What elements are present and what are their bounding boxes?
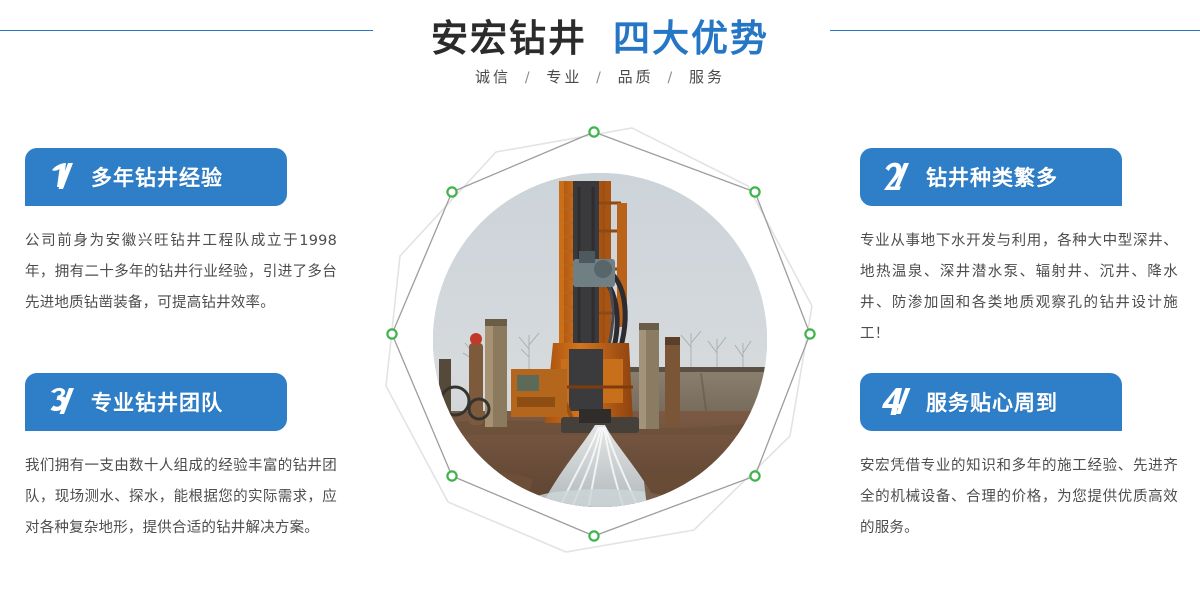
number-two-icon: [878, 156, 920, 198]
title-brand: 安宏钻井: [431, 17, 587, 60]
feature-body-2: 专业从事地下水开发与利用，各种大中型深井、地热温泉、深井潜水泵、辐射井、沉井、降…: [860, 226, 1178, 350]
subtitle-item-2: 专业: [546, 68, 582, 86]
drilling-rig-photo: [433, 173, 767, 507]
vertex-marker-e: [805, 329, 814, 338]
feature-badge-1[interactable]: 多年钻井经验: [25, 148, 287, 206]
feature-body-1: 公司前身为安徽兴旺钻井工程队成立于1998年，拥有二十多年的钻井行业经验，引进了…: [25, 226, 337, 319]
feature-badge-3[interactable]: 专业钻井团队: [25, 373, 287, 431]
feature-title-3: 专业钻井团队: [91, 387, 223, 417]
page-title: 安宏钻井四大优势: [0, 8, 1200, 62]
vertex-marker-s: [589, 531, 598, 540]
vertex-marker-w: [387, 329, 396, 338]
vertex-marker-n: [589, 127, 598, 136]
header-subtitle: 诚信 / 专业 / 品质 / 服务: [0, 66, 1200, 87]
subtitle-item-4: 服务: [689, 68, 725, 86]
feature-body-3: 我们拥有一支由数十人组成的经验丰富的钻井团队，现场测水、探水，能根据您的实际需求…: [25, 451, 337, 544]
feature-body-4: 安宏凭借专业的知识和多年的施工经验、先进齐全的机械设备、合理的价格，为您提供优质…: [860, 451, 1178, 544]
feature-badge-4[interactable]: 服务贴心周到: [860, 373, 1122, 431]
drilling-rig-illustration: [433, 173, 767, 507]
title-accent: 四大优势: [613, 17, 769, 60]
number-three-icon: [43, 381, 85, 423]
subtitle-separator-3: /: [667, 70, 675, 86]
feature-card-4: 服务贴心周到 安宏凭借专业的知识和多年的施工经验、先进齐全的机械设备、合理的价格…: [860, 373, 1200, 544]
feature-card-1: 多年钻井经验 公司前身为安徽兴旺钻井工程队成立于1998年，拥有二十多年的钻井行…: [0, 148, 340, 319]
subtitle-item-3: 品质: [618, 68, 654, 86]
feature-badge-2[interactable]: 钻井种类繁多: [860, 148, 1122, 206]
page-header: 安宏钻井四大优势 诚信 / 专业 / 品质 / 服务: [0, 0, 1200, 110]
subtitle-item-1: 诚信: [475, 68, 511, 86]
subtitle-separator-2: /: [596, 70, 604, 86]
center-graphic: [370, 110, 830, 570]
feature-title-2: 钻井种类繁多: [926, 162, 1058, 192]
feature-card-2: 钻井种类繁多 专业从事地下水开发与利用，各种大中型深井、地热温泉、深井潜水泵、辐…: [860, 148, 1200, 350]
subtitle-separator-1: /: [525, 70, 533, 86]
promo-page: 安宏钻井四大优势 诚信 / 专业 / 品质 / 服务 多年钻井经验: [0, 0, 1200, 600]
feature-title-4: 服务贴心周到: [926, 387, 1058, 417]
feature-card-3: 专业钻井团队 我们拥有一支由数十人组成的经验丰富的钻井团队，现场测水、探水，能根…: [0, 373, 340, 544]
number-one-icon: [43, 156, 85, 198]
number-four-icon: [878, 381, 920, 423]
feature-title-1: 多年钻井经验: [91, 162, 223, 192]
